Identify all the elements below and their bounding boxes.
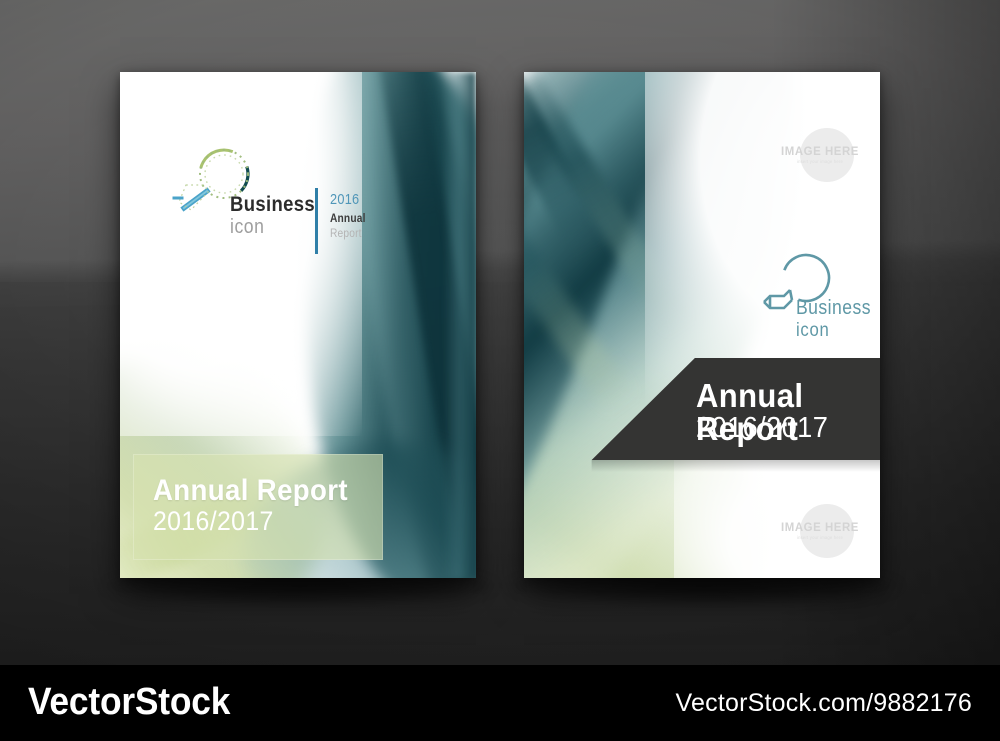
left-logo-wordmark: Business icon: [230, 194, 327, 237]
placeholder-bottom[interactable]: IMAGE HERE insert your image here: [772, 504, 868, 558]
left-meta-annual: Annual: [330, 212, 366, 225]
right-title-subheading: 2016/2017: [696, 414, 828, 443]
placeholder-top[interactable]: IMAGE HERE insert your image here: [772, 128, 868, 182]
footer-bar: VectorStock VectorStock.com/9882176: [0, 665, 1000, 741]
left-logo-icon-text: icon: [230, 217, 315, 237]
right-logo-wordmark: Business icon: [796, 298, 880, 340]
left-right-edge-shade: [444, 72, 476, 578]
left-poster[interactable]: Business icon 2016 Annual Report Annual …: [120, 72, 476, 578]
right-logo-icon-text: icon: [796, 321, 871, 340]
vectorstock-logo-text: VectorStock: [28, 681, 230, 724]
placeholder-top-sublabel: insert your image here: [772, 159, 868, 164]
left-logo-meta-block: 2016 Annual Report: [330, 192, 372, 241]
left-logo-lockup[interactable]: Business icon 2016 Annual Report: [162, 144, 382, 240]
placeholder-top-label: IMAGE HERE: [774, 144, 865, 158]
left-title-subheading: 2016/2017: [153, 508, 274, 535]
right-poster[interactable]: IMAGE HERE insert your image here Busine…: [524, 72, 880, 578]
right-logo-lockup[interactable]: Business icon: [740, 250, 870, 346]
left-logo-divider-rule: [315, 188, 318, 254]
left-meta-report: Report: [330, 227, 366, 240]
left-logo-business-text: Business: [230, 194, 315, 215]
left-white-highlight: [120, 72, 362, 436]
placeholder-bottom-sublabel: insert your image here: [772, 535, 868, 540]
left-title-heading: Annual Report: [153, 476, 348, 506]
screenshot-stage: Business icon 2016 Annual Report Annual …: [0, 0, 1000, 741]
left-meta-year: 2016: [330, 192, 366, 209]
right-logo-business-text: Business: [796, 298, 871, 318]
placeholder-bottom-label: IMAGE HERE: [774, 520, 865, 534]
right-white-highlight: [645, 72, 880, 406]
vectorstock-url-text: VectorStock.com/9882176: [676, 689, 972, 718]
